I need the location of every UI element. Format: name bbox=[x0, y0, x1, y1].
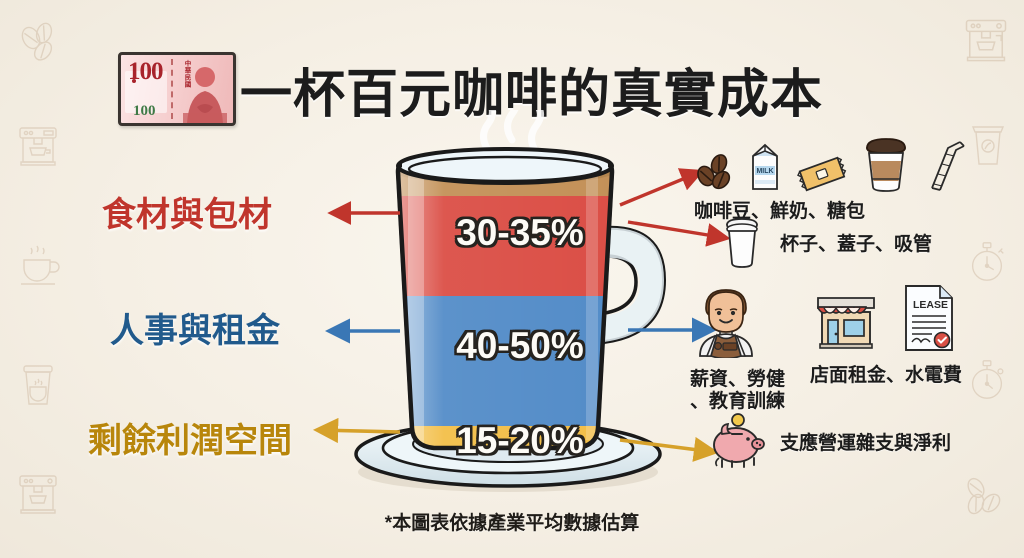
watermark-coffee-cup-steam-icon bbox=[16, 240, 64, 288]
svg-text:MILK: MILK bbox=[756, 168, 773, 175]
watermark-stopwatch-icon bbox=[964, 356, 1010, 404]
category-label-labor-rent: 人事與租金 bbox=[110, 303, 280, 352]
annotation-staff-text: 薪資、勞健、教育訓練 bbox=[690, 369, 800, 414]
annotation-packaging: 杯子、蓋子、吸管 bbox=[722, 216, 932, 268]
annotation-rent-text: 店面租金、水電費 bbox=[810, 360, 962, 387]
lease-document-icon: LEASE bbox=[900, 282, 958, 354]
annotation-profit: 支應營運雜支與淨利 bbox=[708, 412, 951, 470]
watermark-takeaway-cup-icon bbox=[966, 120, 1010, 168]
coffee-beans-icon bbox=[694, 152, 734, 192]
percent-ingredients: 30-35% bbox=[330, 212, 710, 254]
footnote: *本圖表依據產業平均數據估算 bbox=[0, 508, 1024, 535]
annotation-staff-line2: 、教育訓練 bbox=[690, 391, 785, 412]
milk-carton-icon: MILK bbox=[748, 142, 782, 192]
svg-text:LEASE: LEASE bbox=[913, 299, 948, 311]
annotation-staff-line1: 薪資、勞健 bbox=[690, 369, 785, 390]
annotation-staff: 薪資、勞健、教育訓練 bbox=[690, 282, 800, 414]
header: 100 100 中華民國 一杯百元咖啡的真實成本 bbox=[0, 22, 1024, 108]
annotation-ingredients: MILK bbox=[694, 134, 966, 223]
percent-profit: 15-20% bbox=[330, 420, 710, 462]
annotation-rent-icons: LEASE bbox=[810, 282, 962, 354]
category-label-profit: 剩餘利潤空間 bbox=[88, 413, 292, 462]
watermark-stopwatch-icon bbox=[964, 238, 1010, 286]
watermark-takeaway-cup-icon bbox=[16, 360, 60, 408]
annotation-profit-text: 支應營運雜支與淨利 bbox=[780, 428, 951, 455]
taiwan-100-banknote-icon: 100 100 中華民國 bbox=[118, 52, 236, 126]
paper-cup-icon bbox=[722, 216, 762, 268]
straw-icon bbox=[924, 134, 966, 192]
sugar-packet-icon bbox=[796, 156, 848, 192]
takeaway-cup-icon bbox=[862, 134, 910, 192]
annotation-ingredients-icons: MILK bbox=[694, 134, 966, 192]
banknote-portrait-icon bbox=[181, 61, 229, 123]
barista-icon bbox=[690, 282, 762, 358]
storefront-icon bbox=[810, 282, 882, 354]
infographic-canvas: 100 100 中華民國 一杯百元咖啡的真實成本 食材與包材 人事與租金 剩餘利… bbox=[0, 0, 1024, 558]
steam-icon bbox=[484, 110, 541, 152]
percent-labor-rent: 40-50% bbox=[330, 325, 710, 367]
banknote-denomination-bottom: 100 bbox=[133, 103, 156, 120]
category-label-ingredients: 食材與包材 bbox=[102, 187, 272, 236]
watermark-espresso-machine-icon bbox=[14, 122, 62, 170]
annotation-packaging-text: 杯子、蓋子、吸管 bbox=[780, 229, 932, 256]
coffee-cup-chart: 30-35% 40-50% 15-20% bbox=[330, 110, 710, 500]
banknote-denomination-top: 100 bbox=[128, 58, 163, 86]
annotation-rent: LEASE 店面租金、水電費 bbox=[810, 282, 962, 387]
piggy-bank-icon bbox=[708, 412, 770, 470]
